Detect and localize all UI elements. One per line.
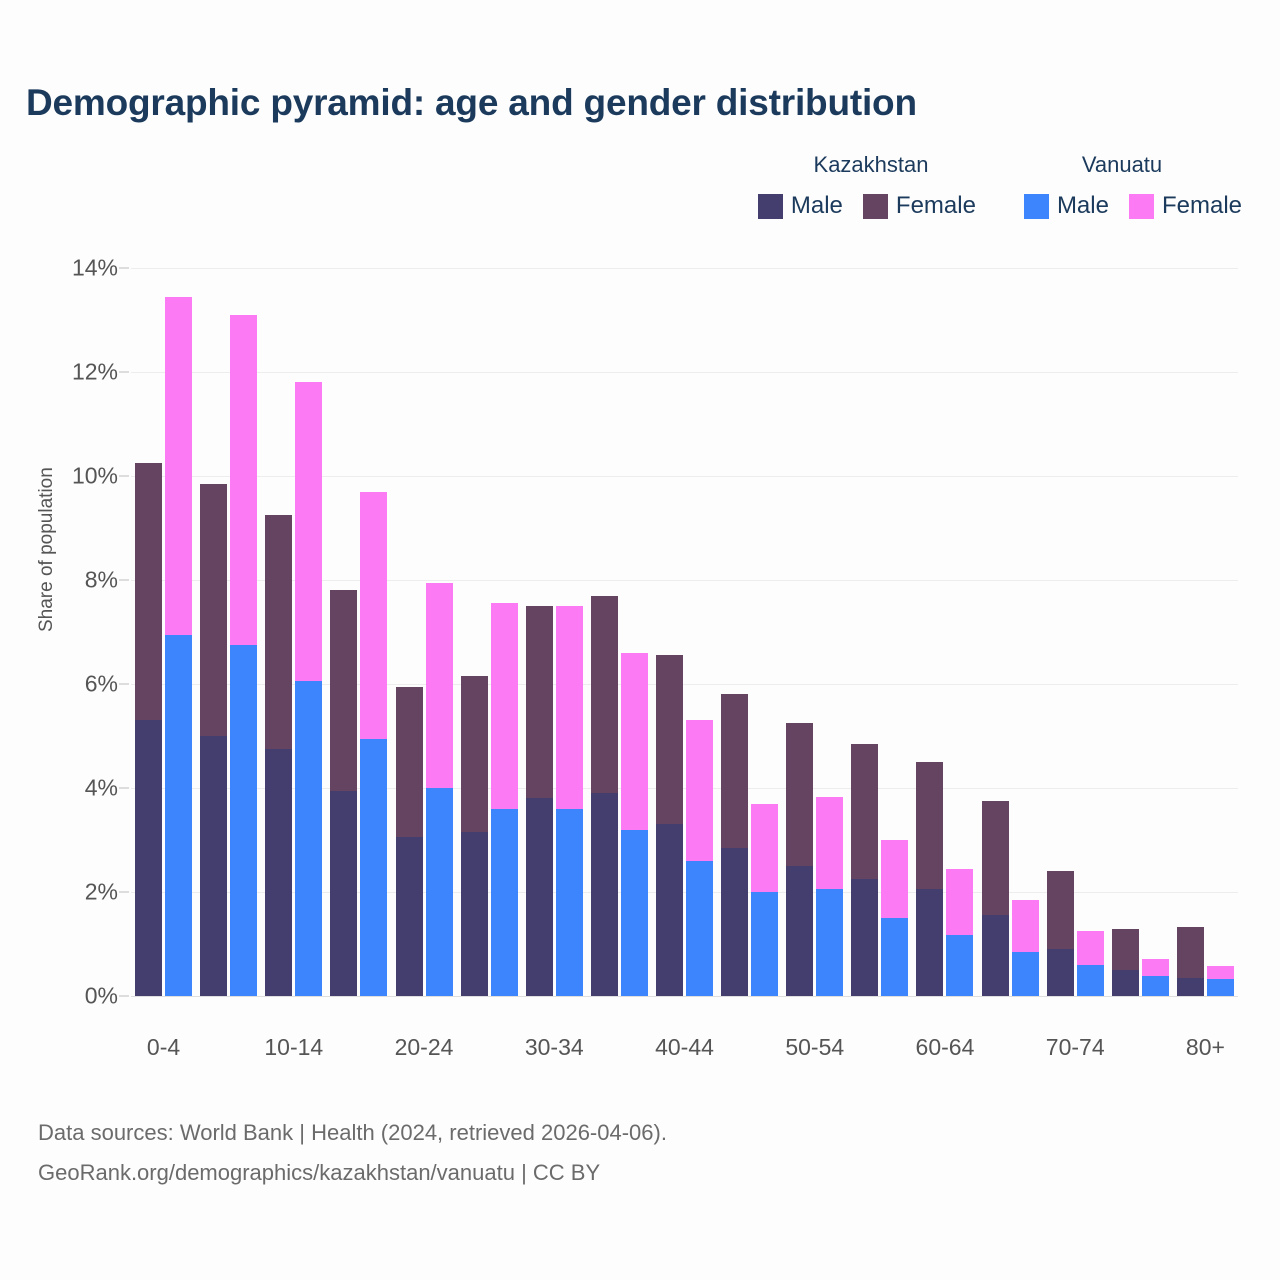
footer-line-attribution: GeoRank.org/demographics/kazakhstan/vanu… — [38, 1153, 667, 1193]
chart-container: Demographic pyramid: age and gender dist… — [0, 0, 1280, 1280]
bar-segment-vanuatu-female — [426, 583, 453, 788]
chart-title: Demographic pyramid: age and gender dist… — [26, 82, 917, 124]
bar-segment-vanuatu-male — [1012, 952, 1039, 996]
bar-segment-kazakhstan-female — [330, 590, 357, 790]
x-axis-tick-label: 60-64 — [916, 1034, 975, 1061]
bar-segment-kazakhstan-male — [851, 879, 878, 996]
bar-segment-kazakhstan-male — [526, 798, 553, 996]
bar-segment-vanuatu-male — [360, 739, 387, 996]
bar-segment-vanuatu-female — [295, 382, 322, 681]
bar-segment-kazakhstan-female — [461, 676, 488, 832]
bar-vanuatu[interactable] — [686, 720, 713, 996]
bar-segment-kazakhstan-female — [721, 694, 748, 847]
legend-swatch-icon-vanuatu-female — [1129, 194, 1154, 219]
bar-kazakhstan[interactable] — [330, 590, 357, 996]
y-axis-tick-mark — [119, 476, 129, 477]
bar-segment-vanuatu-female — [230, 315, 257, 645]
y-axis-tick-mark — [119, 996, 129, 997]
bar-group — [851, 268, 908, 996]
bar-kazakhstan[interactable] — [656, 655, 683, 996]
bar-segment-kazakhstan-female — [916, 762, 943, 889]
footer: Data sources: World Bank | Health (2024,… — [38, 1113, 667, 1193]
y-axis-tick-label: 14% — [8, 255, 118, 282]
y-axis-tick-mark — [119, 788, 129, 789]
legend-item-vanuatu-female[interactable]: Female — [1129, 192, 1242, 220]
x-axis-tick-label: 50-54 — [785, 1034, 844, 1061]
bar-vanuatu[interactable] — [491, 603, 518, 996]
bar-segment-vanuatu-female — [686, 720, 713, 860]
bar-segment-kazakhstan-male — [916, 889, 943, 996]
legend-country-vanuatu: Vanuatu — [1002, 152, 1242, 178]
bar-group — [200, 268, 257, 996]
bar-segment-kazakhstan-male — [200, 736, 227, 996]
y-axis-tick-label: 4% — [8, 775, 118, 802]
bar-group — [265, 268, 322, 996]
bar-segment-kazakhstan-male — [1112, 970, 1139, 996]
y-axis-tick-label: 12% — [8, 359, 118, 386]
bar-kazakhstan[interactable] — [591, 596, 618, 996]
bar-segment-vanuatu-male — [556, 809, 583, 996]
legend-swatch-icon-kazakhstan-female — [863, 194, 888, 219]
bar-segment-kazakhstan-male — [786, 866, 813, 996]
plot-area — [131, 268, 1238, 996]
bar-group — [982, 268, 1039, 996]
bar-segment-vanuatu-female — [360, 492, 387, 739]
bar-vanuatu[interactable] — [621, 653, 648, 996]
bar-segment-vanuatu-female — [621, 653, 648, 830]
bar-vanuatu[interactable] — [360, 492, 387, 996]
bar-segment-kazakhstan-female — [851, 744, 878, 879]
bar-segment-kazakhstan-female — [786, 723, 813, 866]
legend-swatch-icon-vanuatu-male — [1024, 194, 1049, 219]
bar-group — [916, 268, 973, 996]
bar-vanuatu[interactable] — [556, 606, 583, 996]
bar-segment-kazakhstan-female — [1112, 929, 1139, 970]
bar-segment-vanuatu-female — [1142, 959, 1169, 976]
y-axis-tick-mark — [119, 580, 129, 581]
bar-kazakhstan[interactable] — [1047, 871, 1074, 996]
bar-segment-kazakhstan-male — [330, 791, 357, 996]
bar-segment-vanuatu-female — [816, 797, 843, 890]
bar-segment-vanuatu-male — [295, 681, 322, 996]
bar-segment-vanuatu-female — [165, 297, 192, 635]
bar-segment-kazakhstan-male — [396, 837, 423, 996]
bar-segment-vanuatu-male — [751, 892, 778, 996]
bar-segment-kazakhstan-male — [1047, 949, 1074, 996]
bar-segment-vanuatu-female — [881, 840, 908, 918]
bar-group — [656, 268, 713, 996]
x-axis-tick-label: 40-44 — [655, 1034, 714, 1061]
bar-segment-kazakhstan-female — [591, 596, 618, 794]
bar-segment-kazakhstan-female — [135, 463, 162, 720]
legend-swatch-icon-kazakhstan-male — [758, 194, 783, 219]
bar-vanuatu[interactable] — [1012, 900, 1039, 996]
y-axis-tick-mark — [119, 268, 129, 269]
bar-vanuatu[interactable] — [751, 804, 778, 996]
bar-kazakhstan[interactable] — [721, 694, 748, 996]
bar-group — [786, 268, 843, 996]
bar-segment-kazakhstan-female — [1177, 927, 1204, 978]
bar-group — [526, 268, 583, 996]
bar-vanuatu[interactable] — [816, 797, 843, 996]
bar-segment-vanuatu-male — [1142, 976, 1169, 996]
bar-vanuatu[interactable] — [1077, 931, 1104, 996]
x-axis-tick-label: 0-4 — [147, 1034, 180, 1061]
bar-kazakhstan[interactable] — [1177, 927, 1204, 996]
bar-segment-vanuatu-female — [556, 606, 583, 809]
bar-vanuatu[interactable] — [881, 840, 908, 996]
bar-segment-kazakhstan-male — [461, 832, 488, 996]
bar-segment-vanuatu-male — [1077, 965, 1104, 996]
x-axis-tick-label: 70-74 — [1046, 1034, 1105, 1061]
y-axis-tick-mark — [119, 372, 129, 373]
legend-label-vanuatu-female: Female — [1162, 192, 1242, 220]
bar-segment-vanuatu-male — [946, 935, 973, 996]
bar-group — [1112, 268, 1169, 996]
bar-segment-vanuatu-male — [686, 861, 713, 996]
legend-entries: Male Female Male Female — [758, 192, 1242, 220]
bar-segment-kazakhstan-male — [591, 793, 618, 996]
bar-vanuatu[interactable] — [1207, 966, 1234, 996]
bar-kazakhstan[interactable] — [526, 606, 553, 996]
y-axis-tick-mark — [119, 892, 129, 893]
bar-kazakhstan[interactable] — [982, 801, 1009, 996]
x-axis-tick-label: 80+ — [1186, 1034, 1225, 1061]
bar-vanuatu[interactable] — [946, 869, 973, 996]
bar-group — [721, 268, 778, 996]
y-axis-tick-label: 8% — [8, 567, 118, 594]
bar-segment-kazakhstan-female — [526, 606, 553, 798]
legend: Kazakhstan Vanuatu Male Female Male Fema… — [740, 152, 1242, 220]
bar-kazakhstan[interactable] — [1112, 929, 1139, 996]
x-axis-tick-label: 20-24 — [395, 1034, 454, 1061]
x-axis-tick-label: 10-14 — [264, 1034, 323, 1061]
legend-label-vanuatu-male: Male — [1057, 192, 1109, 220]
legend-label-kazakhstan-male: Male — [791, 192, 843, 220]
bar-group — [461, 268, 518, 996]
bar-segment-vanuatu-female — [1207, 966, 1234, 979]
bar-group — [330, 268, 387, 996]
bar-kazakhstan[interactable] — [916, 762, 943, 996]
bar-group — [1047, 268, 1104, 996]
bar-segment-kazakhstan-male — [721, 848, 748, 996]
bar-kazakhstan[interactable] — [461, 676, 488, 996]
bar-kazakhstan[interactable] — [135, 463, 162, 996]
bar-segment-vanuatu-female — [1077, 931, 1104, 965]
gridline — [131, 996, 1238, 997]
bar-vanuatu[interactable] — [426, 583, 453, 996]
bar-segment-kazakhstan-female — [265, 515, 292, 749]
bar-group — [591, 268, 648, 996]
legend-item-kazakhstan-male[interactable]: Male — [758, 192, 843, 220]
bar-segment-kazakhstan-female — [1047, 871, 1074, 949]
bar-segment-kazakhstan-female — [396, 687, 423, 838]
bar-kazakhstan[interactable] — [265, 515, 292, 996]
bar-segment-kazakhstan-female — [200, 484, 227, 736]
bar-segment-vanuatu-female — [1012, 900, 1039, 952]
bar-segment-vanuatu-male — [165, 635, 192, 996]
bar-segment-kazakhstan-male — [1177, 978, 1204, 996]
y-axis-tick-label: 2% — [8, 879, 118, 906]
legend-item-kazakhstan-female[interactable]: Female — [863, 192, 976, 220]
bar-kazakhstan[interactable] — [851, 744, 878, 996]
footer-line-sources: Data sources: World Bank | Health (2024,… — [38, 1113, 667, 1153]
bar-segment-vanuatu-female — [491, 603, 518, 808]
bar-segment-kazakhstan-female — [982, 801, 1009, 915]
y-axis-tick-label: 10% — [8, 463, 118, 490]
legend-country-headings: Kazakhstan Vanuatu — [740, 152, 1242, 178]
bar-segment-vanuatu-male — [816, 889, 843, 996]
x-axis-tick-label: 30-34 — [525, 1034, 584, 1061]
bar-segment-vanuatu-male — [230, 645, 257, 996]
bar-segment-kazakhstan-male — [656, 824, 683, 996]
bar-kazakhstan[interactable] — [786, 723, 813, 996]
y-axis-tick-label: 6% — [8, 671, 118, 698]
y-axis-tick-label: 0% — [8, 983, 118, 1010]
bar-segment-kazakhstan-male — [265, 749, 292, 996]
bar-kazakhstan[interactable] — [396, 687, 423, 996]
bar-vanuatu[interactable] — [230, 315, 257, 996]
y-axis-title: Share of population — [36, 467, 58, 632]
y-axis-tick-mark — [119, 684, 129, 685]
bar-segment-vanuatu-female — [946, 869, 973, 935]
bar-segment-vanuatu-male — [621, 830, 648, 996]
bar-group — [1177, 268, 1234, 996]
bar-group — [135, 268, 192, 996]
bar-segment-vanuatu-female — [751, 804, 778, 892]
bar-segment-vanuatu-male — [881, 918, 908, 996]
bar-segment-vanuatu-male — [491, 809, 518, 996]
bar-segment-kazakhstan-female — [656, 655, 683, 824]
bar-segment-vanuatu-male — [426, 788, 453, 996]
bar-segment-kazakhstan-male — [135, 720, 162, 996]
legend-item-vanuatu-male[interactable]: Male — [1024, 192, 1109, 220]
bar-vanuatu[interactable] — [1142, 959, 1169, 996]
bar-segment-vanuatu-male — [1207, 979, 1234, 996]
bar-vanuatu[interactable] — [295, 382, 322, 996]
legend-country-kazakhstan: Kazakhstan — [740, 152, 1002, 178]
bar-kazakhstan[interactable] — [200, 484, 227, 996]
bar-segment-kazakhstan-male — [982, 915, 1009, 996]
bar-vanuatu[interactable] — [165, 297, 192, 996]
bar-group — [396, 268, 453, 996]
legend-label-kazakhstan-female: Female — [896, 192, 976, 220]
